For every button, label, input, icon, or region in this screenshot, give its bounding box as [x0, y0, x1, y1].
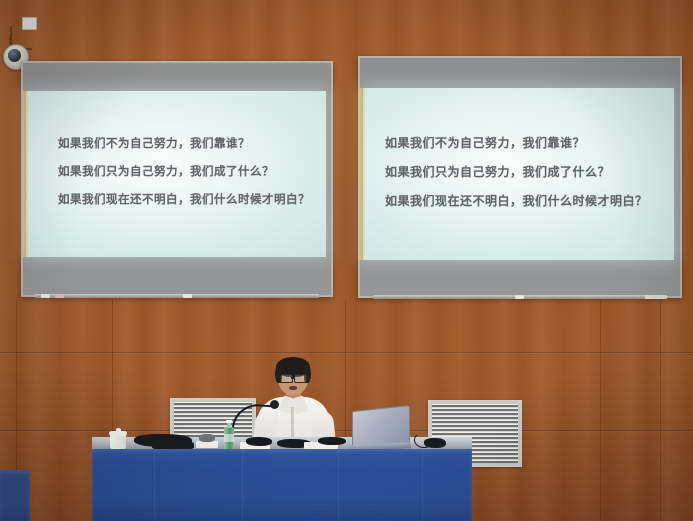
left-screen-projection: 如果我们不为自己努力，我们靠谁？ 如果我们只为自己努力，我们成了什么？ 如果我们… — [26, 91, 326, 257]
lecture-hall-photo: 如果我们不为自己努力，我们靠谁？ 如果我们只为自己努力，我们成了什么？ 如果我们… — [0, 0, 693, 521]
bottle-label — [224, 434, 234, 442]
right-screen-line-1: 如果我们不为自己努力，我们靠谁？ — [385, 134, 674, 151]
water-bottle — [224, 420, 236, 450]
bottle-cap — [226, 420, 232, 423]
head-table-skirt — [92, 449, 472, 521]
glasses-icon — [280, 374, 293, 383]
papers — [196, 441, 218, 448]
marker — [55, 294, 64, 298]
left-marker-tray — [35, 294, 318, 298]
right-marker-tray — [373, 295, 667, 299]
microphone-capsule-icon — [270, 400, 279, 409]
left-screen-line-3: 如果我们现在还不明白，我们什么时候才明白？ — [58, 191, 326, 207]
wall-groove — [660, 300, 661, 521]
desk-object — [199, 434, 215, 442]
marker — [183, 294, 192, 298]
wall-seam — [0, 430, 693, 432]
desk-equipment — [318, 437, 346, 445]
right-screen-projection: 如果我们不为自己努力，我们靠谁？ 如果我们只为自己努力，我们成了什么？ 如果我们… — [363, 88, 674, 260]
desk-equipment — [424, 438, 446, 448]
right-screen-line-3: 如果我们现在还不明白，我们什么时候才明白？ — [385, 192, 674, 209]
wall-groove — [600, 300, 601, 521]
left-screen-line-2: 如果我们只为自己努力，我们成了什么？ — [58, 163, 326, 179]
presenter-mouth — [289, 386, 297, 390]
marker — [41, 294, 50, 298]
marker — [515, 295, 524, 299]
secondary-table-skirt — [0, 470, 30, 521]
camera-lens-icon — [8, 49, 21, 62]
wall-seam — [0, 352, 693, 354]
cup-knob — [116, 428, 121, 432]
left-screen-edge-glow — [23, 91, 28, 257]
left-screen-line-1: 如果我们不为自己努力，我们靠谁？ — [58, 135, 326, 151]
eraser — [645, 295, 667, 299]
glasses-icon — [294, 374, 307, 383]
glasses-bridge — [291, 377, 295, 379]
desk-equipment — [246, 437, 272, 446]
laptop[interactable] — [352, 408, 414, 452]
cup-body — [110, 434, 126, 450]
right-screen-edge-glow — [359, 88, 365, 260]
right-screen-line-2: 如果我们只为自己努力，我们成了什么？ — [385, 163, 674, 180]
